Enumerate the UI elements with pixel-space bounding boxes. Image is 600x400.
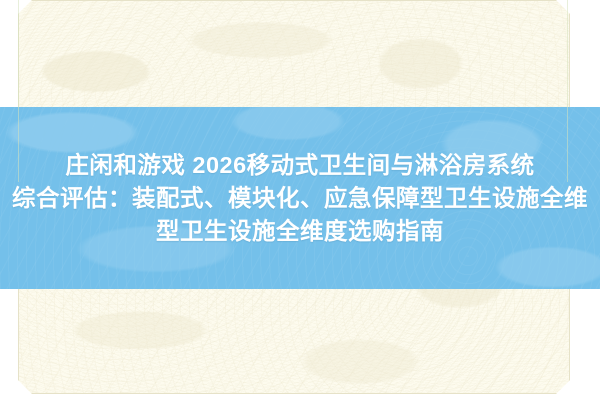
title-line-2: 综合评估：装配式、模块化、应急保障型卫生设施全维 bbox=[12, 182, 588, 215]
title-line-1: 庄闲和游戏 2026移动式卫生间与淋浴房系统 bbox=[65, 149, 534, 182]
title-line-3: 型卫生设施全维度选购指南 bbox=[156, 215, 444, 248]
banner-title: 庄闲和游戏 2026移动式卫生间与淋浴房系统 综合评估：装配式、模块化、应急保障… bbox=[0, 107, 600, 289]
banner-image: 庄闲和游戏 2026移动式卫生间与淋浴房系统 综合评估：装配式、模块化、应急保障… bbox=[0, 0, 600, 400]
